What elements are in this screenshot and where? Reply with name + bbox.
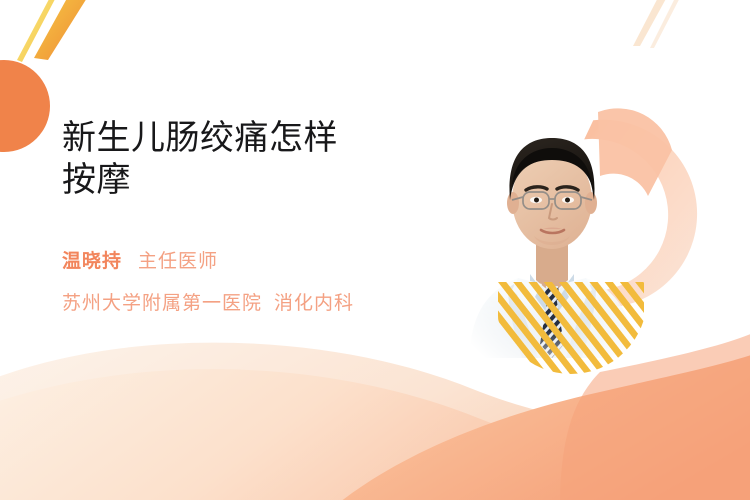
diagonal-stripes-top-right-icon	[633, 0, 686, 48]
doctor-credit-row: 温晓持 主任医师	[62, 246, 442, 273]
page-title: 新生儿肠绞痛怎样 按摩	[62, 118, 442, 202]
doctor-hospital: 苏州大学附属第一医院	[62, 288, 262, 315]
doctor-portrait	[452, 108, 652, 358]
doctor-department: 消化内科	[274, 288, 354, 315]
doctor-info-card: 新生儿肠绞痛怎样 按摩 温晓持 主任医师 苏州大学附属第一医院 消化内科	[0, 0, 750, 500]
diagonal-stripes-top-left-icon	[17, 0, 97, 62]
doctor-portrait-image	[452, 108, 652, 358]
text-block: 新生儿肠绞痛怎样 按摩 温晓持 主任医师 苏州大学附属第一医院 消化内科	[62, 118, 442, 315]
doctor-title: 主任医师	[138, 246, 218, 273]
orange-circle-left-icon	[0, 60, 50, 152]
doctor-name: 温晓持	[62, 246, 122, 273]
doctor-affiliation-row: 苏州大学附属第一医院 消化内科	[62, 288, 442, 315]
